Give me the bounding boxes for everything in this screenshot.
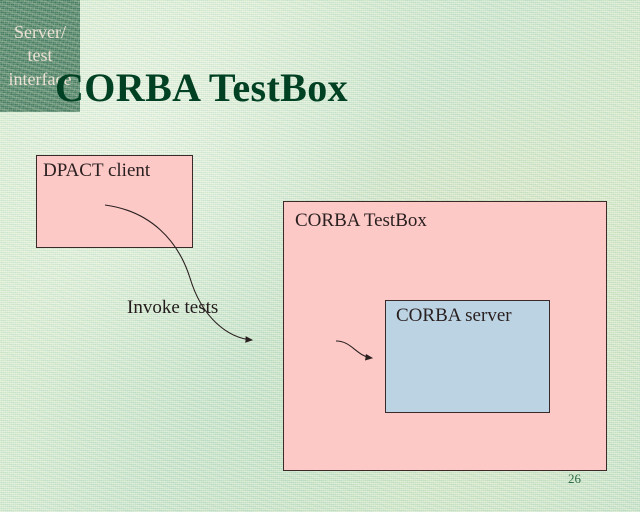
corba-server-box: CORBA server	[385, 300, 550, 413]
invoke-tests-label: Invoke tests	[127, 297, 218, 319]
dpact-client-label: DPACT client	[43, 160, 150, 182]
page-title: CORBA TestBox	[55, 64, 348, 111]
slide-canvas: CORBA TestBox CORBA TestBox DPACT client…	[0, 0, 640, 512]
page-number: 26	[568, 471, 581, 487]
corba-testbox-container-label: CORBA TestBox	[295, 210, 427, 232]
corba-server-label: CORBA server	[396, 305, 512, 327]
server-test-interface-line-1: Server/	[2, 21, 78, 44]
dpact-client-box: DPACT client	[36, 155, 193, 248]
